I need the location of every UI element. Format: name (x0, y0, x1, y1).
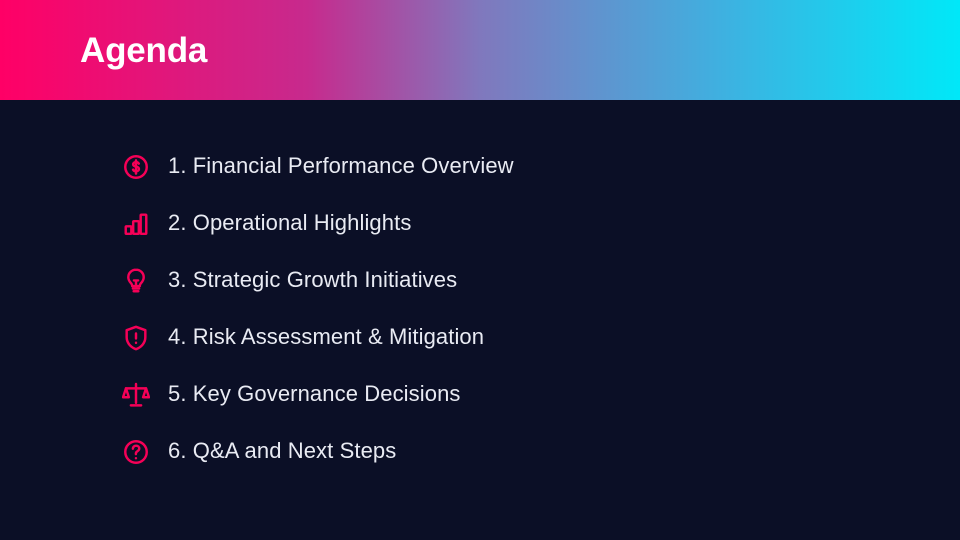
list-item-label: 4. Risk Assessment & Mitigation (168, 325, 484, 349)
shield-alert-icon (120, 322, 152, 354)
list-item-label: 5. Key Governance Decisions (168, 382, 461, 406)
list-item[interactable]: 3. Strategic Growth Initiatives (0, 252, 960, 309)
list-item-label: 6. Q&A and Next Steps (168, 439, 396, 463)
list-item[interactable]: 5. Key Governance Decisions (0, 366, 960, 423)
lightbulb-icon (120, 265, 152, 297)
list-item-label: 2. Operational Highlights (168, 211, 411, 235)
list-item-label: 3. Strategic Growth Initiatives (168, 268, 457, 292)
list-item-label: 1. Financial Performance Overview (168, 154, 514, 178)
page-title: Agenda (80, 0, 207, 100)
list-item[interactable]: 1. Financial Performance Overview (0, 138, 960, 195)
agenda-list: 1. Financial Performance Overview 2. Ope… (0, 138, 960, 480)
question-circle-icon (120, 436, 152, 468)
scales-balance-icon (120, 379, 152, 411)
list-item[interactable]: 4. Risk Assessment & Mitigation (0, 309, 960, 366)
bar-chart-icon (120, 208, 152, 240)
list-item[interactable]: 6. Q&A and Next Steps (0, 423, 960, 480)
list-item[interactable]: 2. Operational Highlights (0, 195, 960, 252)
agenda-slide: Agenda 1. Financial Performance Overview (0, 0, 960, 540)
header-gradient-band: Agenda (0, 0, 960, 100)
dollar-circle-icon (120, 151, 152, 183)
